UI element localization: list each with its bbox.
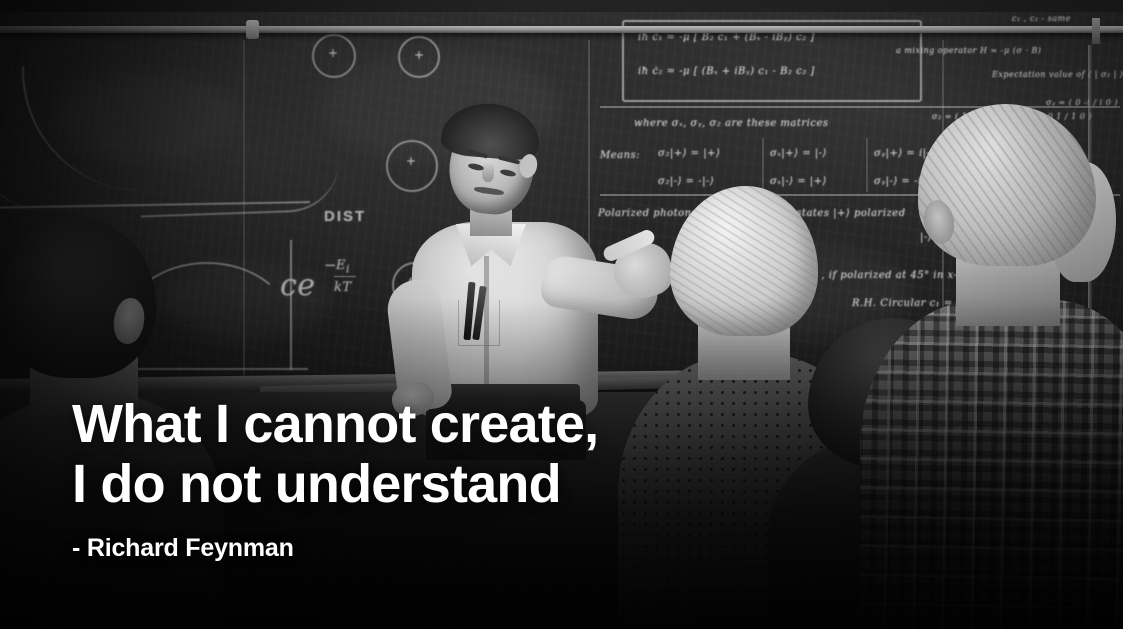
student-mid-hair [670,186,818,336]
chalk-line-hamiltonian: a mixing operator H = -μ (σ · B) [896,46,1041,55]
blackboard-rail-end [1092,18,1100,44]
blackboard-rail-knob [246,20,259,39]
chalk-line-expectation: Expectation value of ⟨ | σ₂ | ⟩ [992,70,1123,79]
quote-overlay: What I cannot create, I do not understan… [72,394,598,563]
chalk-line-c1c2: c₁ , c₂ - same [1012,14,1071,23]
chalk-ket-3: σₓ|+⟩ = |-⟩ [770,148,827,159]
student-right-body [860,300,1123,629]
chalk-equation-2: iħ ċ₂ = -μ [ (Bₓ + iBᵧ) c₁ - B₂ c₂ ] [638,66,815,77]
lecturer-nose [482,162,494,182]
blackboard-rail [0,26,1123,33]
lecturer-hair [440,100,542,162]
chalk-label-dist: DIST [324,208,366,225]
student-right [900,104,1123,629]
lecturer-feynman [396,96,676,416]
chalk-equation-1: iħ ċ₁ = -μ [ B₂ c₁ + (Bₓ - iBᵧ) c₂ ] [638,32,815,43]
quote-attribution: - Richard Feynman [72,534,598,563]
quote-image: + + + ⊕ ⊕ DIST ce − Ei kT iħ ċ₁ = -μ [ B… [0,0,1123,629]
quote-text: What I cannot create, I do not understan… [72,394,598,514]
